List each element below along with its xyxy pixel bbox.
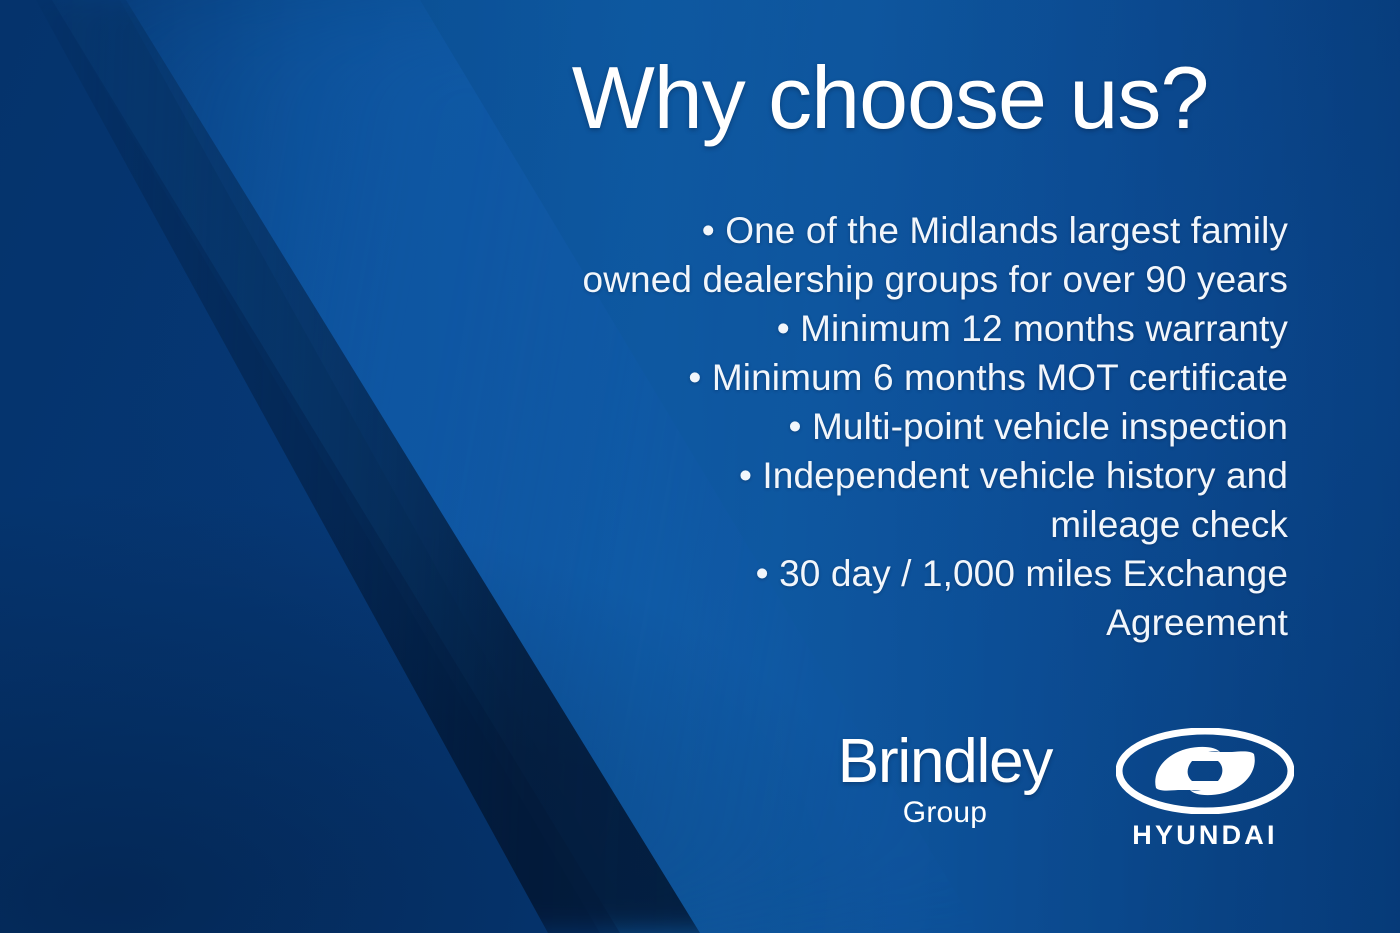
promo-banner: Why choose us? • One of the Midlands lar…: [0, 0, 1400, 933]
hyundai-logo: HYUNDAI: [1105, 728, 1305, 858]
benefits-line: Agreement: [428, 598, 1288, 647]
hyundai-wordmark: HYUNDAI: [1105, 820, 1305, 850]
benefits-line: • 30 day / 1,000 miles Exchange: [428, 549, 1288, 598]
brindley-group-logo: Brindley Group: [810, 730, 1080, 850]
page-title: Why choose us?: [480, 52, 1300, 144]
benefits-line: • Multi-point vehicle inspection: [428, 402, 1288, 451]
benefits-line: • Minimum 12 months warranty: [428, 304, 1288, 353]
benefits-line: owned dealership groups for over 90 year…: [428, 255, 1288, 304]
hyundai-oval-h-emblem: [1116, 728, 1294, 814]
brindley-wordmark: Brindley: [810, 730, 1080, 794]
benefits-line: • One of the Midlands largest family: [428, 206, 1288, 255]
brindley-descriptor: Group: [810, 796, 1080, 830]
benefits-line: • Independent vehicle history and: [428, 451, 1288, 500]
logo-lockup: Brindley Group HYUNDAI: [800, 718, 1320, 878]
benefits-line: • Minimum 6 months MOT certificate: [428, 353, 1288, 402]
benefits-list: • One of the Midlands largest family own…: [428, 206, 1288, 647]
benefits-line: mileage check: [428, 500, 1288, 549]
